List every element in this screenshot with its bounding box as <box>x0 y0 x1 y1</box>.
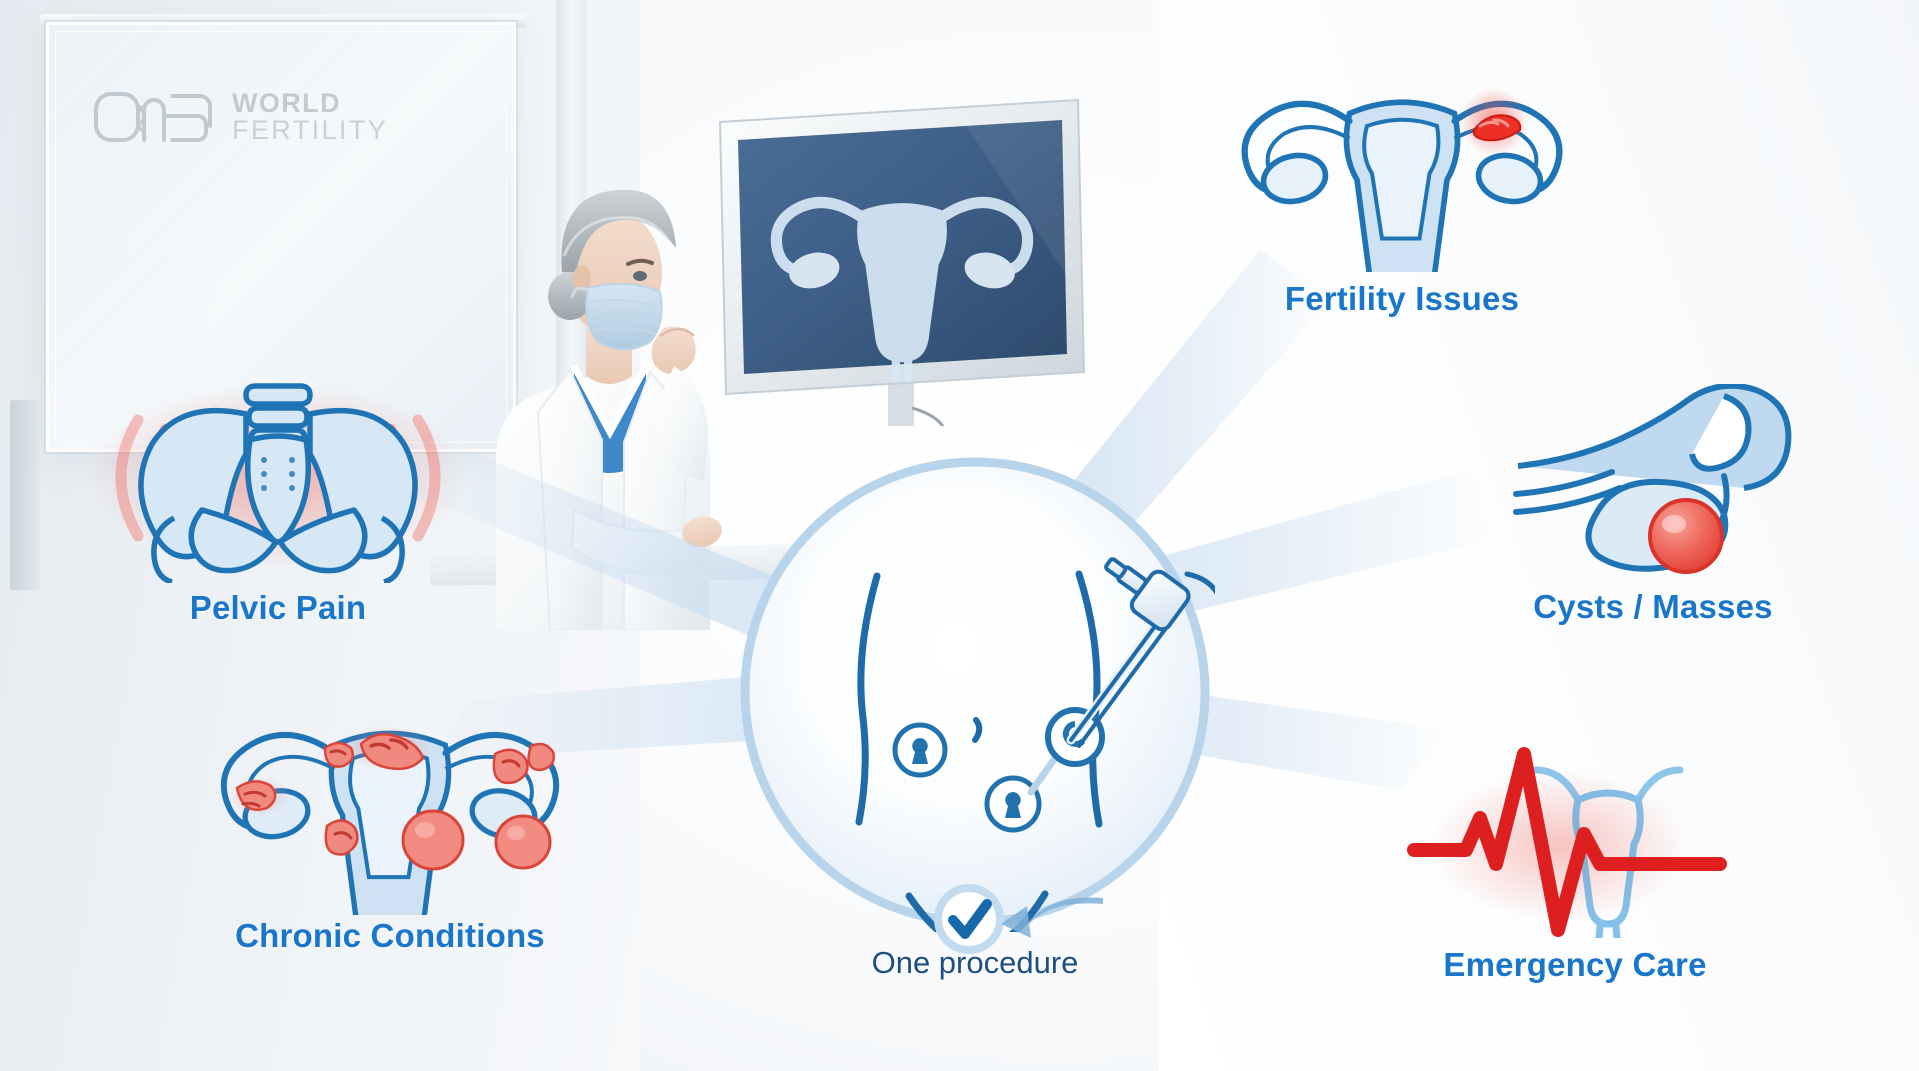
node-chronic-conditions[interactable]: Chronic Conditions <box>175 700 605 955</box>
node-fertility-issues-label: Fertility Issues <box>1222 280 1582 318</box>
tube-blockage-marker <box>1460 88 1528 156</box>
pelvis-bone-with-pain-waves-icon <box>78 368 478 583</box>
uterus-with-endometriosis-lesions-icon <box>175 700 605 915</box>
node-emergency-care-label: Emergency Care <box>1400 946 1750 984</box>
infographic-canvas: WORLD FERTILITY <box>0 0 1919 1071</box>
center-caption: One procedure <box>820 945 1130 981</box>
ecg-heartbeat-over-uterus-icon <box>1400 738 1750 938</box>
central-procedure-illustration <box>735 452 1215 932</box>
node-cysts-masses[interactable]: Cysts / Masses <box>1478 384 1828 626</box>
node-chronic-conditions-label: Chronic Conditions <box>175 917 605 955</box>
node-cysts-masses-label: Cysts / Masses <box>1478 588 1828 626</box>
ovary-with-cyst-icon <box>1478 384 1828 584</box>
node-emergency-care[interactable]: Emergency Care <box>1400 738 1750 984</box>
uterus-with-blocked-fallopian-tube-icon <box>1222 72 1582 272</box>
center-caption-label: One procedure <box>820 945 1130 981</box>
node-pelvic-pain-label: Pelvic Pain <box>78 589 478 627</box>
cyst-marker <box>1650 500 1722 572</box>
incision-port-left <box>895 725 945 775</box>
node-pelvic-pain[interactable]: Pelvic Pain <box>78 368 478 627</box>
inbound-arrow-icon <box>995 880 1105 950</box>
node-fertility-issues[interactable]: Fertility Issues <box>1222 72 1582 318</box>
